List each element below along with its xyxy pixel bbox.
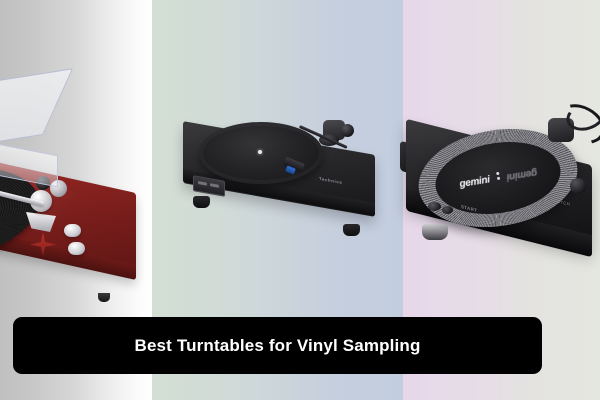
title-banner: Best Turntables for Vinyl Sampling	[13, 317, 542, 374]
brand-label-gemini-mirrored: gemini	[506, 166, 538, 182]
spindle	[258, 150, 262, 154]
product-image-technics-turntable: Technics	[183, 116, 383, 234]
dust-cover	[0, 88, 64, 180]
slipmat-branding-row: gemini gemini	[459, 166, 538, 189]
speed-button-45	[210, 183, 219, 188]
turntable-foot	[193, 196, 210, 208]
screenshot-canvas: MUSIC RECORDS	[0, 0, 600, 400]
start-stop-button	[428, 202, 441, 211]
product-image-wood-turntable: MUSIC RECORDS	[0, 96, 152, 286]
speed-button-33	[198, 181, 207, 186]
control-knob	[68, 242, 85, 255]
product-image-gemini-turntable: gemini gemini PITCH START	[406, 100, 600, 280]
slipmat-center-dot	[496, 176, 499, 179]
page-title: Best Turntables for Vinyl Sampling	[135, 336, 421, 356]
turntable-foot	[343, 224, 360, 236]
turntable-foot	[98, 293, 110, 302]
speed-button	[442, 206, 453, 214]
pitch-fader-knob	[570, 178, 586, 194]
brand-label-gemini: gemini	[459, 174, 491, 190]
control-knob	[64, 224, 81, 237]
turntable-foot	[422, 224, 448, 240]
tonearm-counterweight	[341, 124, 354, 137]
